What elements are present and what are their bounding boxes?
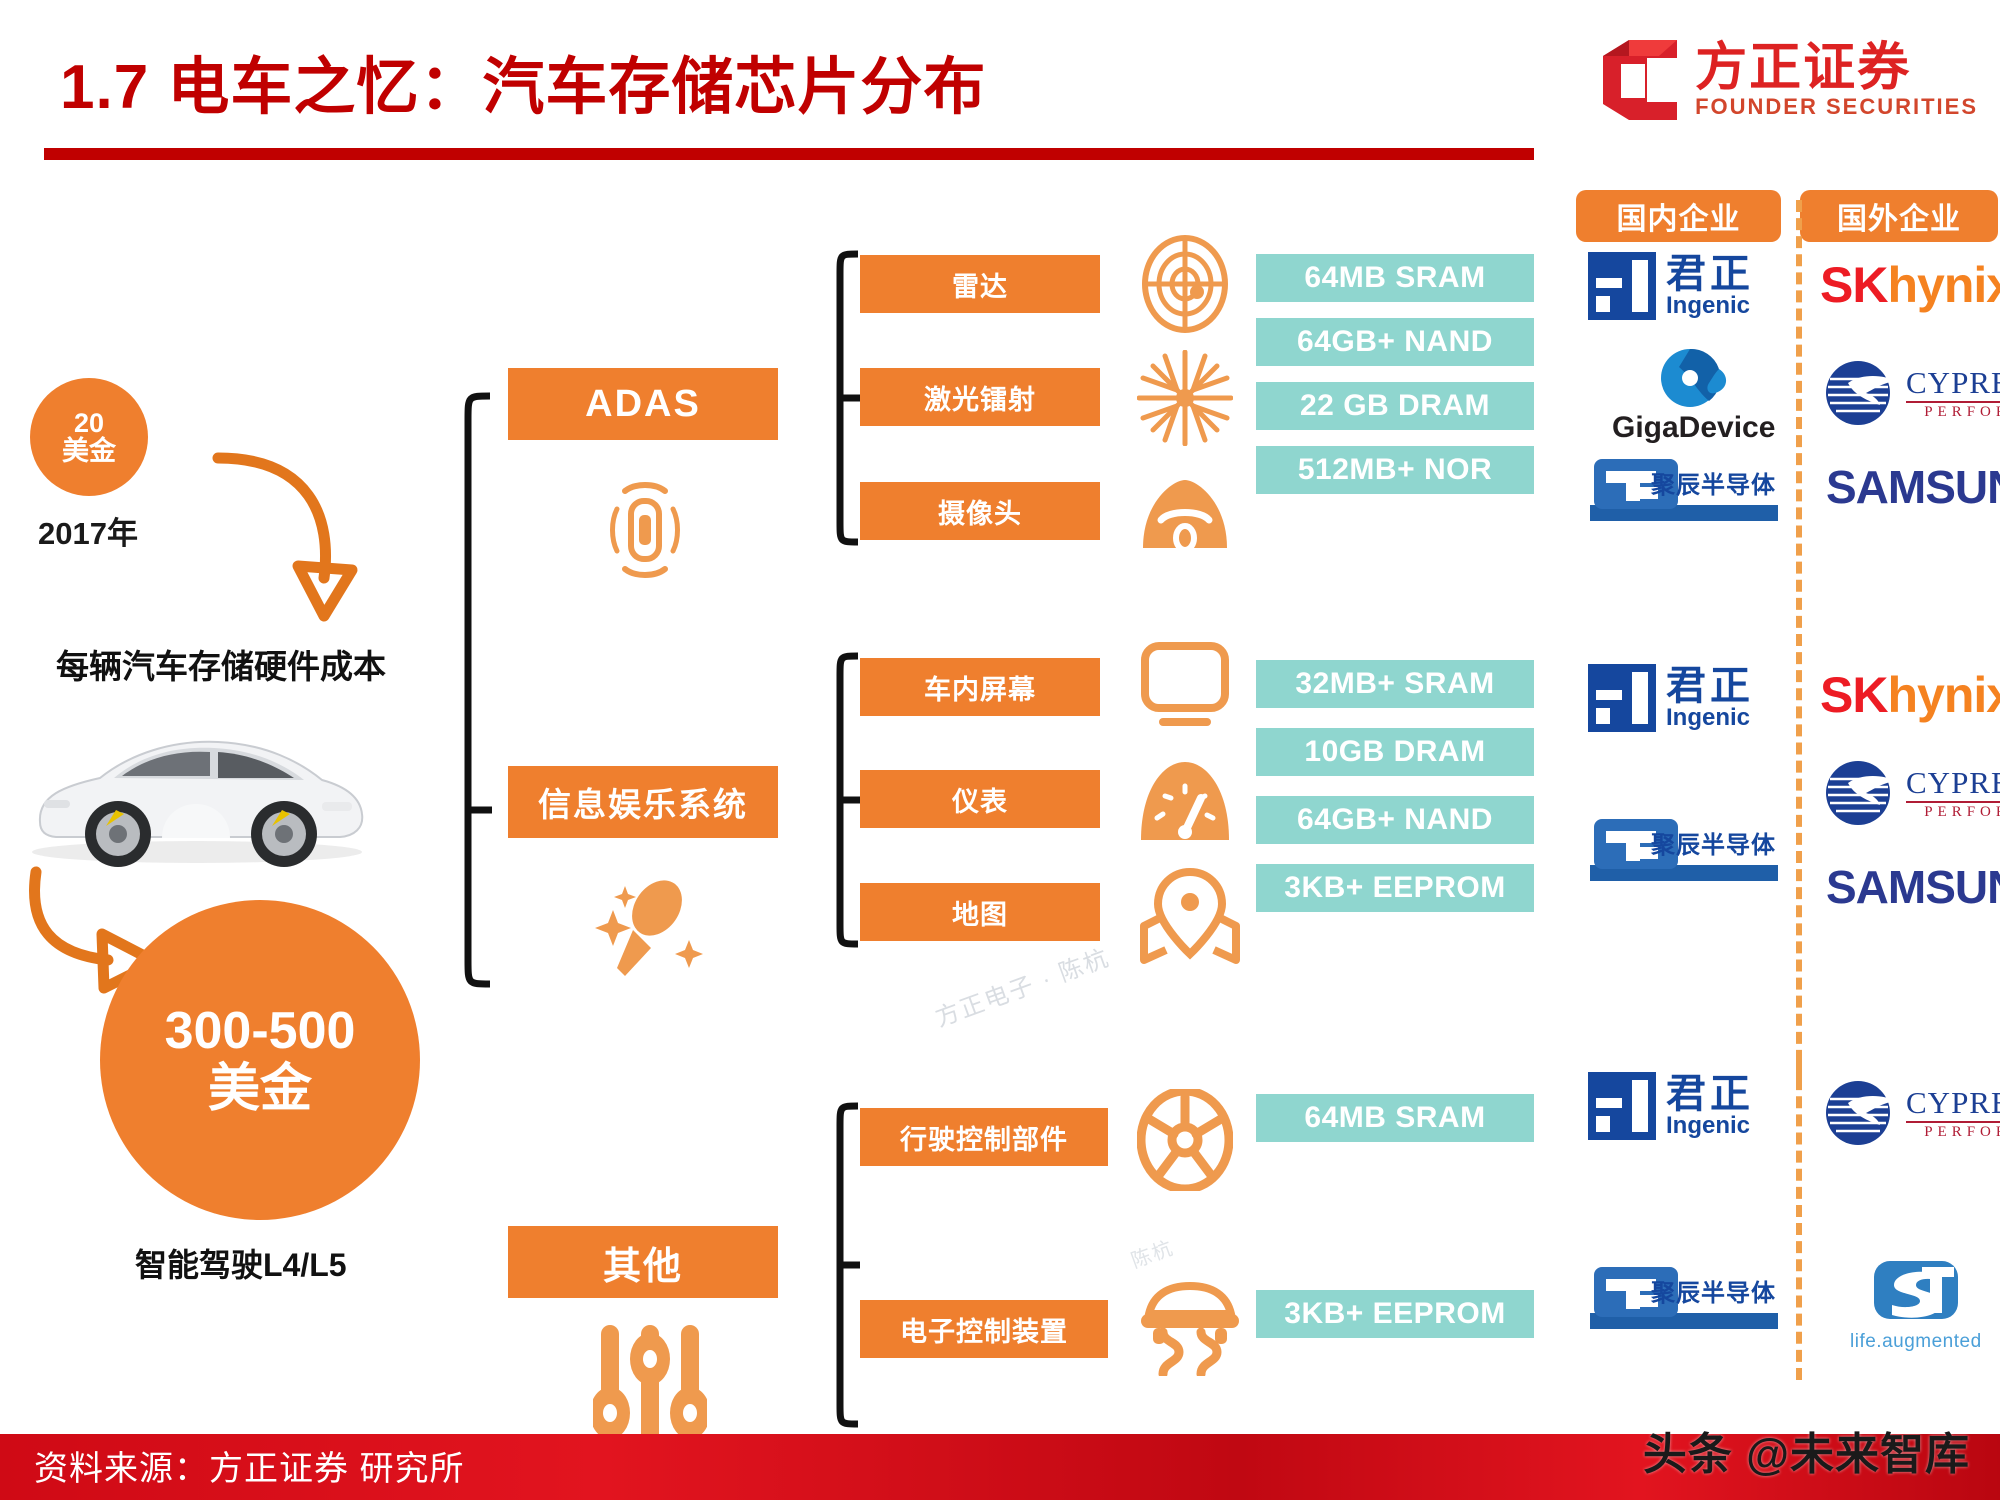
founder-cube-icon bbox=[1599, 38, 1681, 122]
curved-arrow-down-icon bbox=[200, 440, 360, 630]
cypress-tagline: PERFORM bbox=[1924, 805, 2000, 820]
cypress-name: CYPRESS bbox=[1906, 1087, 2000, 1118]
column-header-domestic[interactable]: 国内企业 bbox=[1576, 190, 1781, 242]
memory-spec: 22 GB DRAM bbox=[1256, 382, 1534, 430]
memory-spec: 3KB+ EEPROM bbox=[1256, 1290, 1534, 1338]
vendor-logo-juchen: 聚辰半导体 bbox=[1590, 452, 1800, 528]
cypress-tagline: PERFORM bbox=[1924, 1125, 2000, 1140]
cost-caption: 每辆汽车存储硬件成本 bbox=[56, 640, 386, 688]
year-label: 2017年 bbox=[38, 508, 138, 553]
gigadevice-mark-icon bbox=[1657, 347, 1731, 409]
ingenic-name-en: Ingenic bbox=[1666, 294, 1754, 318]
bracket-other bbox=[826, 1100, 864, 1430]
memory-spec: 32MB+ SRAM bbox=[1256, 660, 1534, 708]
founder-securities-brand: 方正证券 FOUNDER SECURITIES bbox=[1599, 38, 1978, 122]
leaf-box-cluster[interactable]: 仪表 bbox=[860, 770, 1100, 828]
vendor-logo-ingenic: 君正 Ingenic bbox=[1588, 248, 1788, 324]
leaf-box-lidar[interactable]: 激光镭射 bbox=[860, 368, 1100, 426]
cost-2017-unit: 美金 bbox=[62, 437, 116, 465]
dome-camera-icon bbox=[1130, 478, 1240, 554]
vendor-logo-ingenic: 君正 Ingenic bbox=[1588, 660, 1788, 736]
vendor-logo-juchen: 聚辰半导体 bbox=[1590, 1260, 1800, 1336]
vendor-logo-skhynix: SKhynix bbox=[1820, 250, 2000, 320]
juchen-name-cn: 聚辰半导体 bbox=[1651, 1273, 1776, 1308]
cypress-mark-icon bbox=[1824, 359, 1900, 427]
category-box-other[interactable]: 其他 bbox=[508, 1226, 778, 1298]
vendor-logo-ingenic: 君正 Ingenic bbox=[1588, 1068, 1788, 1144]
laser-burst-icon bbox=[1130, 360, 1240, 436]
ingenic-name-en: Ingenic bbox=[1666, 1114, 1754, 1138]
steering-wheel-icon bbox=[1130, 1090, 1240, 1190]
category-box-infotainment[interactable]: 信息娱乐系统 bbox=[508, 766, 778, 838]
source-note: 资料来源：方正证券 研究所 bbox=[34, 1441, 464, 1490]
gauge-icon bbox=[1130, 756, 1240, 846]
samsung-name: SAMSUNG bbox=[1826, 860, 2000, 914]
white-sedan-photo bbox=[22, 700, 372, 870]
car-sensor-icon bbox=[590, 470, 700, 590]
sliders-icon bbox=[590, 1320, 710, 1450]
cost-l4l5-circle: 300-500 美金 bbox=[100, 900, 420, 1220]
watermark-mid: 方正电子 · 陈杭 bbox=[930, 938, 1114, 1034]
skhynix-name-part2: hynix bbox=[1887, 257, 2000, 313]
cypress-mark-icon bbox=[1824, 759, 1900, 827]
leaf-box-map[interactable]: 地图 bbox=[860, 883, 1100, 941]
column-header-foreign[interactable]: 国外企业 bbox=[1800, 190, 1998, 242]
autonomy-level-label: 智能驾驶L4/L5 bbox=[135, 1240, 347, 1286]
category-box-adas[interactable]: ADAS bbox=[508, 368, 778, 440]
cypress-name: CYPRESS bbox=[1906, 367, 2000, 398]
vendor-logo-samsung: SAMSUNG bbox=[1826, 852, 2000, 922]
vendor-logo-cypress: CYPRESS PERFORM bbox=[1824, 348, 2000, 438]
cypress-tagline: PERFORM bbox=[1924, 405, 2000, 420]
bracket-adas bbox=[826, 248, 864, 548]
st-mark-icon bbox=[1868, 1257, 1964, 1329]
gigadevice-name: GigaDevice bbox=[1612, 411, 1775, 445]
juchen-name-cn: 聚辰半导体 bbox=[1651, 825, 1776, 860]
cost-l4l5-value: 300-500 bbox=[165, 1002, 356, 1060]
memory-spec: 3KB+ EEPROM bbox=[1256, 864, 1534, 912]
vendor-logo-gigadevice: GigaDevice bbox=[1612, 346, 1812, 446]
memory-spec: 64MB SRAM bbox=[1256, 254, 1534, 302]
cost-2017-value: 20 bbox=[74, 409, 104, 437]
vendor-logo-juchen: 聚辰半导体 bbox=[1590, 812, 1800, 888]
bracket-infotainment bbox=[826, 650, 864, 950]
memory-spec: 64MB SRAM bbox=[1256, 1094, 1534, 1142]
ingenic-name-cn: 君正 bbox=[1666, 666, 1754, 706]
leaf-box-drive-control[interactable]: 行驶控制部件 bbox=[860, 1108, 1108, 1166]
cypress-mark-icon bbox=[1824, 1079, 1900, 1147]
domestic-foreign-divider-top bbox=[1796, 200, 1802, 1080]
ingenic-name-cn: 君正 bbox=[1666, 254, 1754, 294]
toutiao-watermark: 头条 @未来智库 bbox=[1643, 1418, 1970, 1482]
vendor-logo-cypress: CYPRESS PERFORM bbox=[1824, 1068, 2000, 1158]
vendor-logo-cypress: CYPRESS PERFORM bbox=[1824, 748, 2000, 838]
cypress-name: CYPRESS bbox=[1906, 767, 2000, 798]
skhynix-name-part1: SK bbox=[1820, 257, 1887, 313]
slide-canvas: 1.7 电车之忆：汽车存储芯片分布 方正证券 FOUNDER SECURITIE… bbox=[0, 0, 2000, 1500]
vendor-logo-samsung: SAMSUNG bbox=[1826, 452, 2000, 522]
samsung-name: SAMSUNG bbox=[1826, 460, 2000, 514]
vendor-logo-st: life.augmented bbox=[1850, 1250, 2000, 1360]
title-underline bbox=[44, 148, 1534, 160]
leaf-box-screen[interactable]: 车内屏幕 bbox=[860, 658, 1100, 716]
page-title: 1.7 电车之忆：汽车存储芯片分布 bbox=[60, 36, 986, 126]
ingenic-name-en: Ingenic bbox=[1666, 706, 1754, 730]
juchen-name-cn: 聚辰半导体 bbox=[1651, 465, 1776, 500]
brand-name-cn: 方正证券 bbox=[1695, 42, 1978, 94]
memory-spec: 64GB+ NAND bbox=[1256, 318, 1534, 366]
leaf-box-camera[interactable]: 摄像头 bbox=[860, 482, 1100, 540]
leaf-box-ecu[interactable]: 电子控制装置 bbox=[860, 1300, 1108, 1358]
ingenic-mark-icon bbox=[1588, 1072, 1656, 1140]
ingenic-name-cn: 君正 bbox=[1666, 1074, 1754, 1114]
main-bracket-tick bbox=[456, 800, 496, 820]
car-skid-icon bbox=[1130, 1268, 1250, 1378]
memory-spec: 10GB DRAM bbox=[1256, 728, 1534, 776]
cost-2017-circle: 20 美金 bbox=[30, 378, 148, 496]
main-bracket bbox=[456, 390, 496, 990]
vendor-logo-skhynix: SKhynix bbox=[1820, 660, 2000, 730]
cost-l4l5-unit: 美金 bbox=[208, 1060, 312, 1118]
memory-spec: 64GB+ NAND bbox=[1256, 796, 1534, 844]
map-pin-icon bbox=[1130, 866, 1250, 966]
brand-name-en: FOUNDER SECURITIES bbox=[1695, 96, 1978, 118]
memory-spec: 512MB+ NOR bbox=[1256, 446, 1534, 494]
ingenic-mark-icon bbox=[1588, 252, 1656, 320]
st-tagline: life.augmented bbox=[1850, 1331, 1982, 1353]
ingenic-mark-icon bbox=[1588, 664, 1656, 732]
monitor-icon bbox=[1130, 640, 1240, 730]
microphone-icon bbox=[590, 866, 710, 986]
radar-icon bbox=[1130, 248, 1240, 320]
leaf-box-radar[interactable]: 雷达 bbox=[860, 255, 1100, 313]
skhynix-name-part2: hynix bbox=[1887, 667, 2000, 723]
skhynix-name-part1: SK bbox=[1820, 667, 1887, 723]
